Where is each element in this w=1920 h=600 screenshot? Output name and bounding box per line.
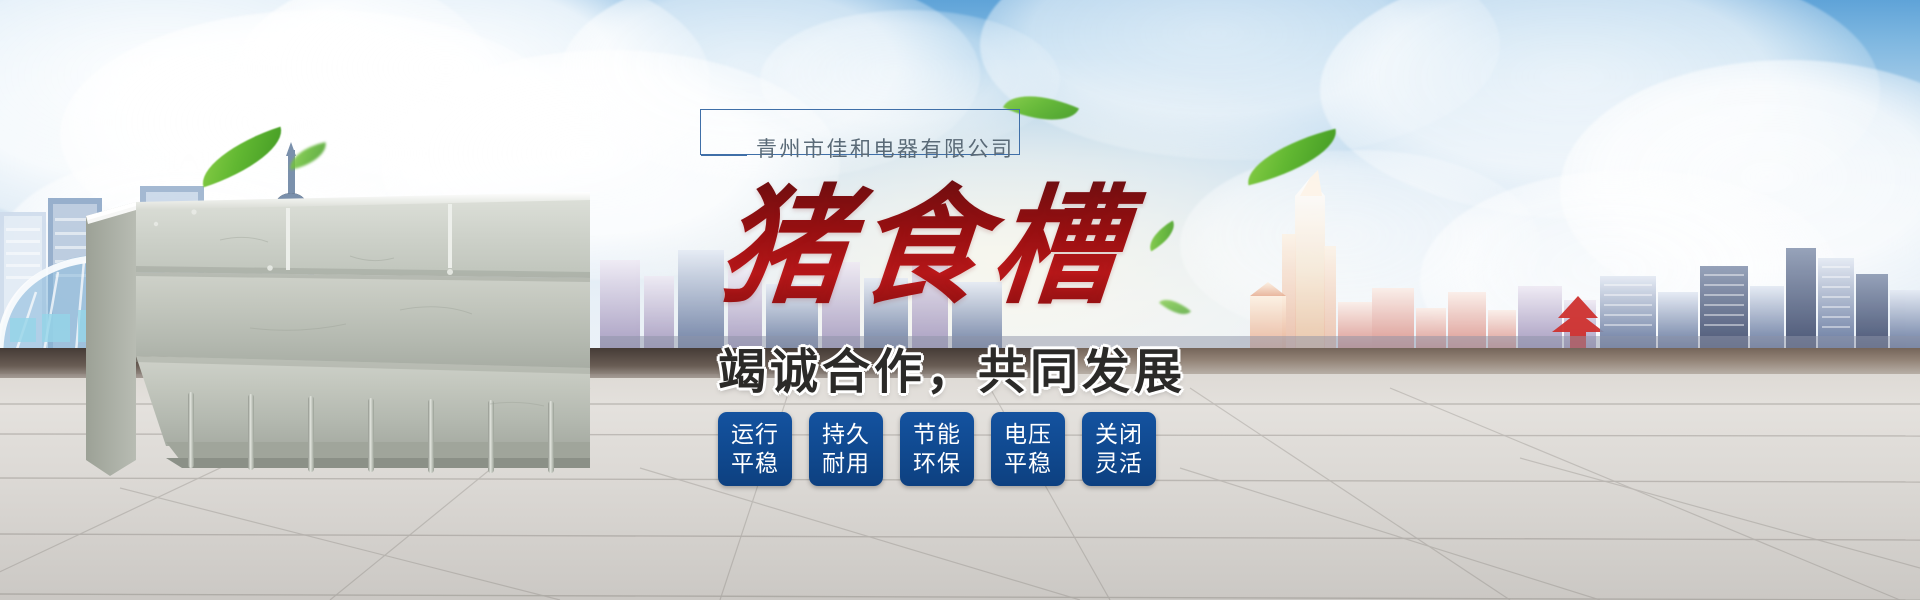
product-banner: 青州市佳和电器有限公司 猪食槽 竭诚合作，共同发展 运行 平稳 持久 耐用 节能… [0, 0, 1920, 600]
subtitle: 竭诚合作，共同发展 [718, 332, 1186, 402]
feature-badge[interactable]: 关闭 灵活 [1082, 412, 1156, 486]
feature-badge-line2: 灵活 [1095, 449, 1143, 478]
company-name-frame: 青州市佳和电器有限公司 [700, 109, 1022, 157]
stainless-steel-feeder-trough [70, 160, 590, 480]
feature-badge-line2: 环保 [913, 449, 961, 478]
company-name: 青州市佳和电器有限公司 [756, 133, 1015, 163]
feature-badge-line2: 平稳 [1004, 449, 1052, 478]
company-rule [701, 155, 747, 156]
feature-badge[interactable]: 电压 平稳 [991, 412, 1065, 486]
feature-badge[interactable]: 持久 耐用 [809, 412, 883, 486]
feature-badge-line1: 节能 [913, 420, 961, 449]
feature-badge-line2: 平稳 [731, 449, 779, 478]
feature-badge-line1: 电压 [1004, 420, 1052, 449]
feature-badge-line1: 关闭 [1095, 420, 1143, 449]
feature-badge-line1: 运行 [731, 420, 779, 449]
feature-badge-list: 运行 平稳 持久 耐用 节能 环保 电压 平稳 关闭 灵活 [718, 412, 1156, 486]
feature-badge-line1: 持久 [822, 420, 870, 449]
feature-badge[interactable]: 运行 平稳 [718, 412, 792, 486]
feature-badge[interactable]: 节能 环保 [900, 412, 974, 486]
feature-badge-line2: 耐用 [822, 449, 870, 478]
page-title: 猪食槽 [714, 178, 1266, 318]
banner-copy: 青州市佳和电器有限公司 猪食槽 竭诚合作，共同发展 运行 平稳 持久 耐用 节能… [700, 100, 1420, 540]
